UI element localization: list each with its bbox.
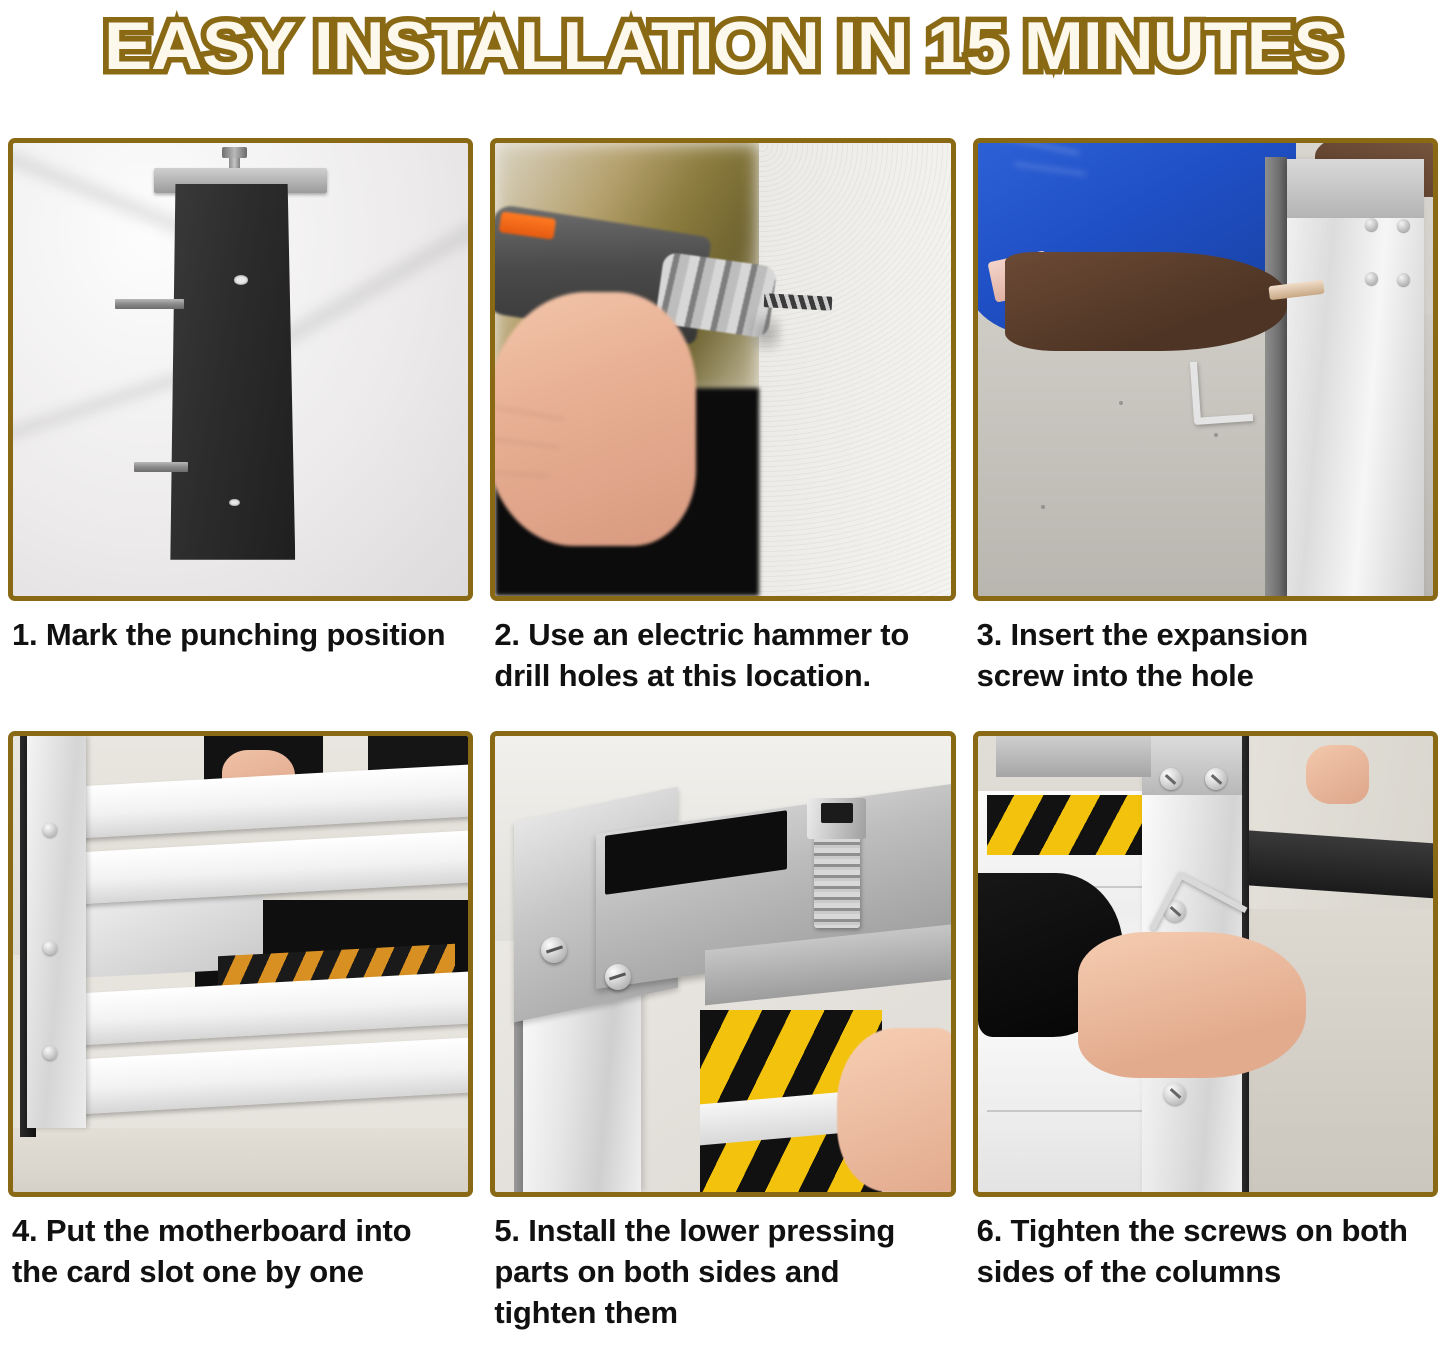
screw-icon bbox=[43, 941, 57, 955]
hand-icon bbox=[837, 1028, 956, 1192]
caption-line: 1. Mark the punching position bbox=[12, 615, 469, 656]
step-image-3 bbox=[973, 138, 1438, 601]
step-caption-6: 6. Tighten the screws on both sides of t… bbox=[973, 1197, 1438, 1327]
hand-icon bbox=[490, 292, 695, 546]
hazard-stripe-icon bbox=[987, 795, 1142, 854]
step-image-6 bbox=[973, 731, 1438, 1197]
step-card-6: 6. Tighten the screws on both sides of t… bbox=[973, 731, 1438, 1334]
step-caption-3: 3. Insert the expansion screw into the h… bbox=[973, 601, 1438, 731]
step-caption-1: 1. Mark the punching position bbox=[8, 601, 473, 731]
step-card-4: 4. Put the motherboard into the card slo… bbox=[8, 731, 473, 1334]
textured-wall-icon bbox=[759, 143, 950, 596]
caption-line: 4. Put the motherboard into bbox=[12, 1211, 469, 1252]
steps-grid: 1. Mark the punching position bbox=[8, 138, 1438, 1334]
floor-speck-icon bbox=[1119, 401, 1123, 405]
title-banner: EASY INSTALLATION IN 15 MINUTES bbox=[0, 0, 1445, 92]
caption-line: 5. Install the lower pressing bbox=[494, 1211, 951, 1252]
step-card-2: 2. Use an electric hammer to drill holes… bbox=[490, 138, 955, 731]
step-image-1 bbox=[8, 138, 473, 601]
finger-line-icon bbox=[490, 470, 549, 476]
infographic-page: EASY INSTALLATION IN 15 MINUTES 1. Mark … bbox=[0, 0, 1445, 1352]
motherboard-panel bbox=[81, 971, 473, 1046]
hand-icon bbox=[1306, 745, 1370, 804]
step-image-5 bbox=[490, 731, 955, 1197]
step-card-5: 5. Install the lower pressing parts on b… bbox=[490, 731, 955, 1334]
caption-line: parts on both sides and bbox=[494, 1252, 951, 1293]
column-edge-icon bbox=[1265, 157, 1288, 596]
step-caption-2: 2. Use an electric hammer to drill holes… bbox=[490, 601, 955, 731]
caption-line: the card slot one by one bbox=[12, 1252, 469, 1293]
step-image-2 bbox=[490, 138, 955, 601]
fabric-fold-icon bbox=[995, 138, 1079, 156]
caption-line: 2. Use an electric hammer to bbox=[494, 615, 951, 656]
caption-line: 3. Insert the expansion bbox=[977, 615, 1434, 656]
hand-icon bbox=[1078, 932, 1306, 1078]
step-caption-5: 5. Install the lower pressing parts on b… bbox=[490, 1197, 955, 1334]
drill-hole-icon bbox=[234, 275, 249, 285]
step-card-3: 3. Insert the expansion screw into the h… bbox=[973, 138, 1438, 731]
screw-icon bbox=[1160, 768, 1182, 790]
caption-line: drill holes at this location. bbox=[494, 656, 951, 697]
hand-icon bbox=[1005, 252, 1287, 352]
drill-dust-icon bbox=[750, 306, 782, 360]
motherboard-panel bbox=[81, 1037, 473, 1114]
caption-line: sides of the columns bbox=[977, 1252, 1434, 1293]
floor-icon bbox=[13, 1128, 468, 1192]
page-title: EASY INSTALLATION IN 15 MINUTES bbox=[104, 12, 1341, 80]
white-column-icon bbox=[27, 736, 86, 1128]
caption-line: 6. Tighten the screws on both bbox=[977, 1211, 1434, 1252]
hex-socket-icon bbox=[821, 803, 853, 823]
screw-icon bbox=[1164, 1083, 1186, 1105]
finger-line-icon bbox=[491, 405, 566, 420]
screw-icon bbox=[43, 823, 57, 837]
top-fitting-icon bbox=[996, 736, 1151, 777]
caption-line: tighten them bbox=[494, 1293, 951, 1334]
screw-icon bbox=[541, 937, 567, 963]
screw-icon bbox=[605, 964, 631, 990]
horizontal-bolt-icon bbox=[134, 462, 189, 472]
step-card-1: 1. Mark the punching position bbox=[8, 138, 473, 731]
cloth-fold-icon bbox=[276, 208, 474, 349]
step-caption-4: 4. Put the motherboard into the card slo… bbox=[8, 1197, 473, 1327]
column-top-plate-icon bbox=[1287, 159, 1424, 218]
step-image-4 bbox=[8, 731, 473, 1197]
caption-line: screw into the hole bbox=[977, 656, 1434, 697]
fabric-fold-icon bbox=[1015, 162, 1087, 176]
finger-line-icon bbox=[490, 438, 559, 449]
column-top-plate-icon bbox=[1142, 736, 1242, 795]
board-seam-icon bbox=[987, 1110, 1142, 1112]
screw-icon bbox=[43, 1046, 57, 1060]
horizontal-bolt-icon bbox=[115, 299, 183, 309]
hex-key-icon bbox=[1190, 358, 1253, 425]
